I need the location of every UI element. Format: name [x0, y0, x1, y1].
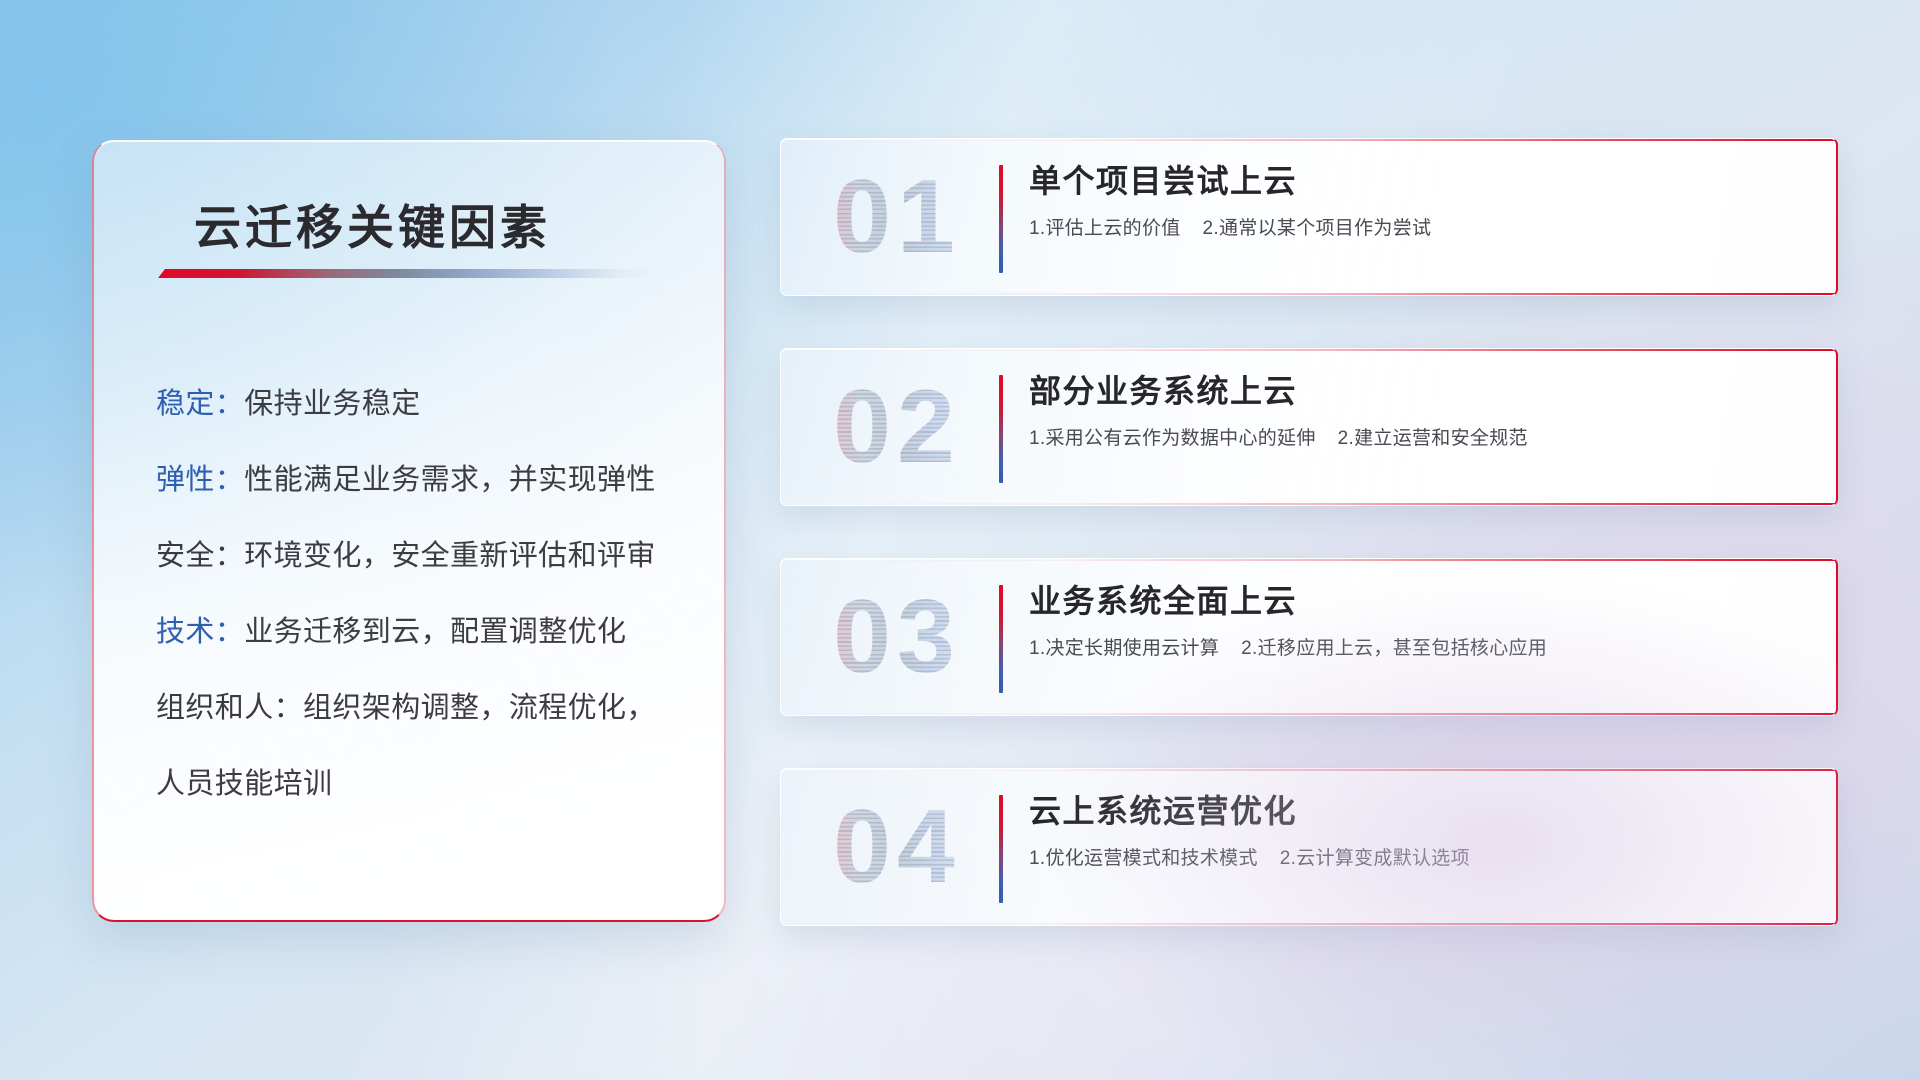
step-points: 1.决定长期使用云计算2.迁移应用上云，甚至包括核心应用	[1029, 636, 1800, 662]
key-factor-label: 组织和人：	[156, 692, 303, 724]
step-title: 业务系统全面上云	[1029, 581, 1800, 622]
key-factor-value: 性能满足业务需求，并实现弹性	[244, 464, 656, 496]
step-card[interactable]: 02部分业务系统上云1.采用公有云作为数据中心的延伸2.建立运营和安全规范	[780, 348, 1838, 506]
accent-bar	[999, 375, 1003, 483]
card-bottom-edge	[781, 503, 1836, 505]
key-factor-value: 人员技能培训	[156, 768, 332, 800]
card-top-edge	[781, 769, 1836, 771]
accent-bar	[999, 795, 1003, 903]
step-point: 2.迁移应用上云，甚至包括核心应用	[1241, 638, 1547, 659]
step-point: 1.决定长期使用云计算	[1029, 638, 1219, 659]
migration-steps-list: 01单个项目尝试上云1.评估上云的价值2.通常以某个项目作为尝试02部分业务系统…	[780, 138, 1838, 978]
page-title: 云迁移关键因素	[194, 189, 551, 258]
step-number-watermark: 02	[807, 364, 987, 490]
step-points: 1.采用公有云作为数据中心的延伸2.建立运营和安全规范	[1029, 426, 1800, 452]
card-bottom-edge	[781, 713, 1836, 715]
card-top-edge	[781, 349, 1836, 351]
key-factor-label: 稳定：	[156, 388, 244, 420]
step-number-watermark: 04	[807, 784, 987, 910]
key-factor-value: 保持业务稳定	[244, 388, 420, 420]
step-points: 1.评估上云的价值2.通常以某个项目作为尝试	[1029, 216, 1800, 242]
step-title: 部分业务系统上云	[1029, 371, 1800, 412]
accent-bar	[999, 585, 1003, 693]
step-card[interactable]: 03业务系统全面上云1.决定长期使用云计算2.迁移应用上云，甚至包括核心应用	[780, 558, 1838, 716]
key-factor-row: 安全：环境变化，安全重新评估和评审	[156, 518, 690, 594]
key-factor-value: 业务迁移到云，配置调整优化	[244, 616, 626, 648]
step-point: 2.通常以某个项目作为尝试	[1203, 218, 1432, 239]
step-card[interactable]: 04云上系统运营优化1.优化运营模式和技术模式2.云计算变成默认选项	[780, 768, 1838, 926]
step-number-text: 01	[833, 165, 961, 269]
card-top-edge	[781, 139, 1836, 141]
key-factor-row: 人员技能培训	[156, 746, 690, 822]
step-card-body: 业务系统全面上云1.决定长期使用云计算2.迁移应用上云，甚至包括核心应用	[1029, 581, 1800, 662]
step-title: 云上系统运营优化	[1029, 791, 1800, 832]
accent-bar	[999, 165, 1003, 273]
step-title: 单个项目尝试上云	[1029, 161, 1800, 202]
title-underline-gradient	[158, 269, 658, 278]
step-point: 1.采用公有云作为数据中心的延伸	[1029, 428, 1316, 449]
step-card-body: 单个项目尝试上云1.评估上云的价值2.通常以某个项目作为尝试	[1029, 161, 1800, 242]
card-bottom-edge	[781, 923, 1836, 925]
step-points: 1.优化运营模式和技术模式2.云计算变成默认选项	[1029, 846, 1800, 872]
card-bottom-edge	[781, 293, 1836, 295]
key-factor-row: 弹性：性能满足业务需求，并实现弹性	[156, 442, 690, 518]
step-number-text: 02	[833, 375, 961, 479]
step-number-text: 03	[833, 585, 961, 689]
key-factor-value: 环境变化，安全重新评估和评审	[244, 540, 656, 572]
card-top-edge	[781, 559, 1836, 561]
step-number-watermark: 01	[807, 154, 987, 280]
step-point: 2.云计算变成默认选项	[1280, 848, 1470, 869]
key-factor-label: 安全：	[156, 540, 244, 572]
step-card-body: 部分业务系统上云1.采用公有云作为数据中心的延伸2.建立运营和安全规范	[1029, 371, 1800, 452]
step-number-watermark: 03	[807, 574, 987, 700]
key-factor-row: 稳定：保持业务稳定	[156, 366, 690, 442]
key-factor-label: 技术：	[156, 616, 244, 648]
key-factor-row: 组织和人：组织架构调整，流程优化，	[156, 670, 690, 746]
step-card[interactable]: 01单个项目尝试上云1.评估上云的价值2.通常以某个项目作为尝试	[780, 138, 1838, 296]
key-factor-row: 技术：业务迁移到云，配置调整优化	[156, 594, 690, 670]
step-point: 2.建立运营和安全规范	[1338, 428, 1528, 449]
step-point: 1.评估上云的价值	[1029, 218, 1181, 239]
key-factor-value: 组织架构调整，流程优化，	[303, 692, 656, 724]
step-point: 1.优化运营模式和技术模式	[1029, 848, 1258, 869]
key-factors-list: 稳定：保持业务稳定弹性：性能满足业务需求，并实现弹性安全：环境变化，安全重新评估…	[156, 366, 690, 822]
step-card-body: 云上系统运营优化1.优化运营模式和技术模式2.云计算变成默认选项	[1029, 791, 1800, 872]
slide-canvas: 云迁移关键因素 稳定：保持业务稳定弹性：性能满足业务需求，并实现弹性安全：环境变…	[0, 0, 1920, 1080]
key-factor-label: 弹性：	[156, 464, 244, 496]
key-factors-panel: 云迁移关键因素 稳定：保持业务稳定弹性：性能满足业务需求，并实现弹性安全：环境变…	[92, 140, 726, 922]
step-number-text: 04	[833, 795, 961, 899]
